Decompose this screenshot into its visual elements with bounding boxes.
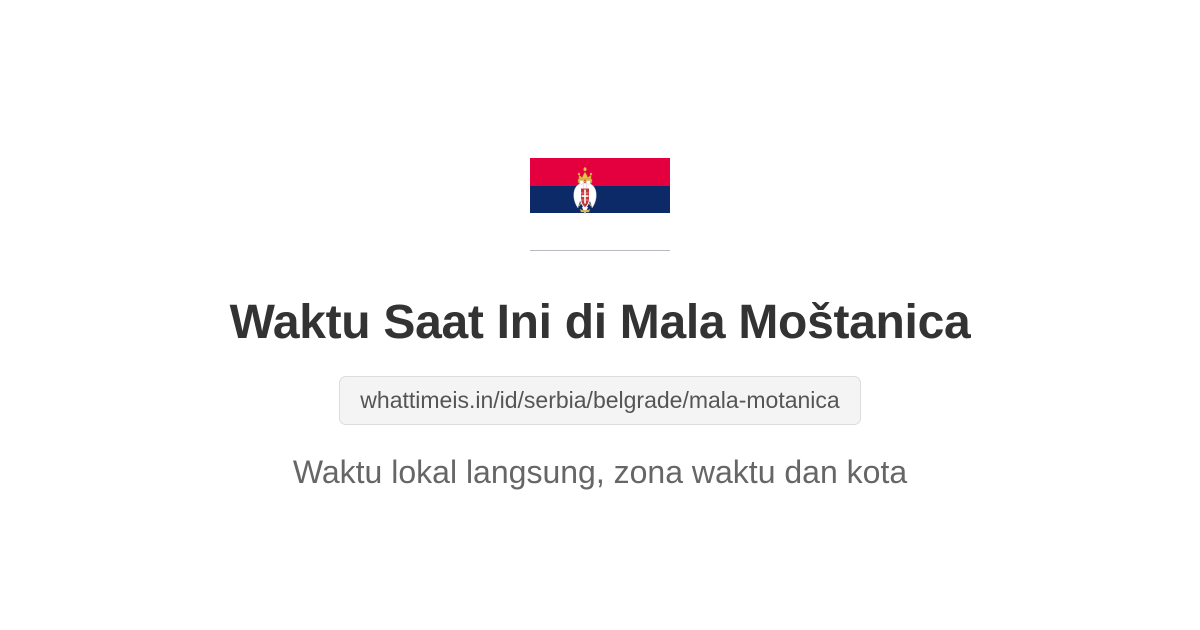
preview-card: C C C C Waktu Saat Ini di Mala Moštanica… bbox=[0, 0, 1200, 630]
horizontal-rule bbox=[530, 250, 670, 251]
url-chip[interactable]: whattimeis.in/id/serbia/belgrade/mala-mo… bbox=[339, 376, 860, 425]
flag-block: C C C C bbox=[530, 158, 670, 251]
page-title: Waktu Saat Ini di Mala Moštanica bbox=[230, 295, 971, 350]
page-subtitle: Waktu lokal langsung, zona waktu dan kot… bbox=[293, 453, 907, 491]
serbia-flag-icon: C C C C bbox=[530, 158, 670, 240]
